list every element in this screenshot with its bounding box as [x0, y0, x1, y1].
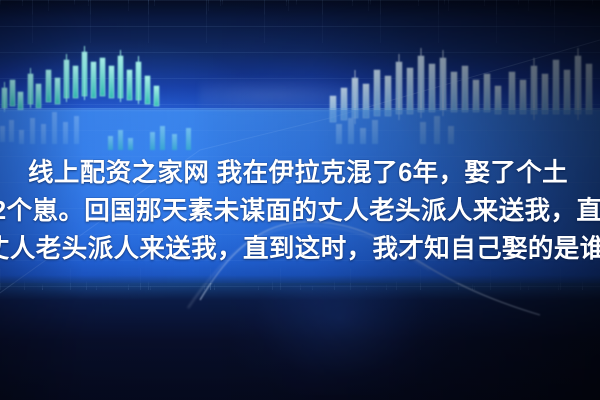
headline-line-2: 2个崽。回国那天素未谋面的丈人老头派人来送我，直 [0, 199, 600, 225]
headline-line-3: 丈人老头派人来送我，直到这时，我才知自己娶的是谁 [0, 237, 600, 263]
screenshot-canvas: 线上配资之家网 我在伊拉克混了6年，娶了个土 2个崽。回国那天素未谋面的丈人老头… [0, 0, 600, 400]
headline-line-1: 线上配资之家网 我在伊拉克混了6年，娶了个土 [28, 161, 568, 187]
headline-text-overlay: 线上配资之家网 我在伊拉克混了6年，娶了个土 2个崽。回国那天素未谋面的丈人老头… [0, 0, 600, 400]
